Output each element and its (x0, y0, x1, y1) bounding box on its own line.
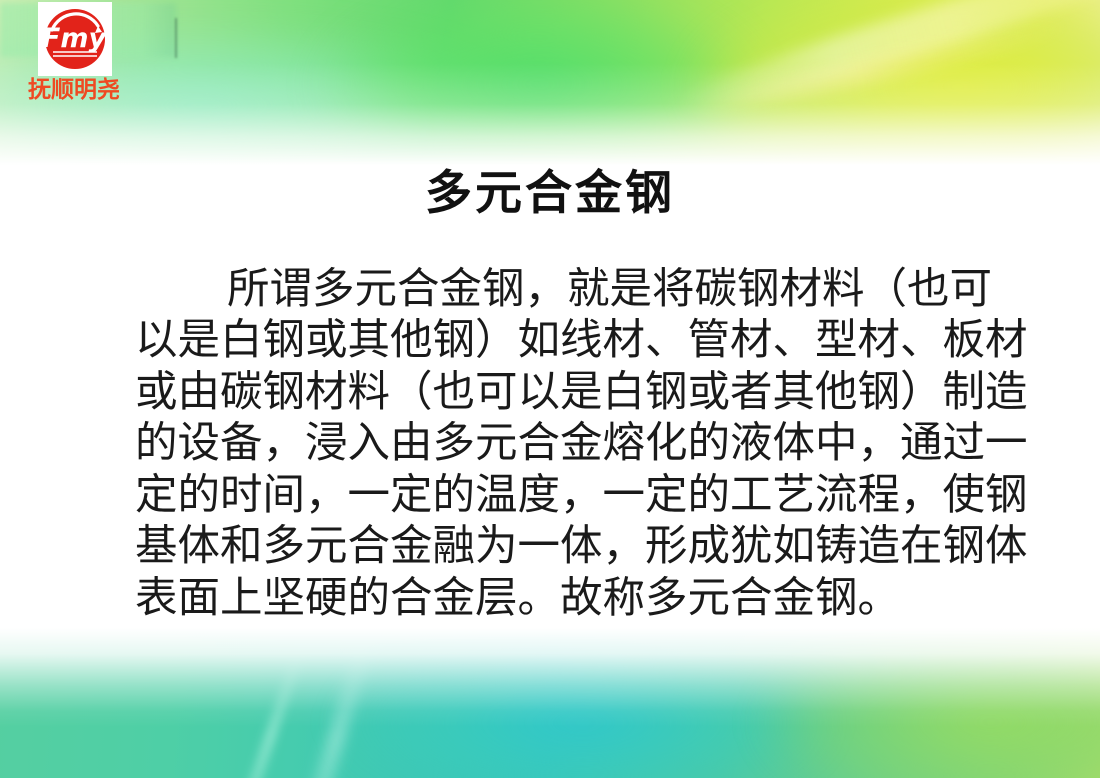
slide-title: 多元合金钢 (0, 168, 1100, 220)
company-name-label: 抚顺明尧 (14, 78, 134, 102)
presentation-slide: Fmy 抚顺明尧 多元合金钢 所谓多元合金钢，就是将碳钢材料（也可以是白钢或其他… (0, 0, 1100, 778)
banner-top-vertical-divider (175, 18, 177, 58)
company-logo: Fmy 抚顺明尧 (14, 2, 134, 102)
slide-body-paragraph: 所谓多元合金钢，就是将碳钢材料（也可以是白钢或其他钢）如线材、管材、型材、板材或… (0, 264, 1100, 625)
banner-bottom-white-fade (0, 628, 1100, 727)
slide-content: 多元合金钢 所谓多元合金钢，就是将碳钢材料（也可以是白钢或其他钢）如线材、管材、… (0, 150, 1100, 624)
svg-text:Fmy: Fmy (42, 23, 108, 54)
top-decorative-banner (0, 0, 1100, 165)
bottom-decorative-banner (0, 628, 1100, 778)
fmy-logo-icon: Fmy (38, 2, 112, 76)
